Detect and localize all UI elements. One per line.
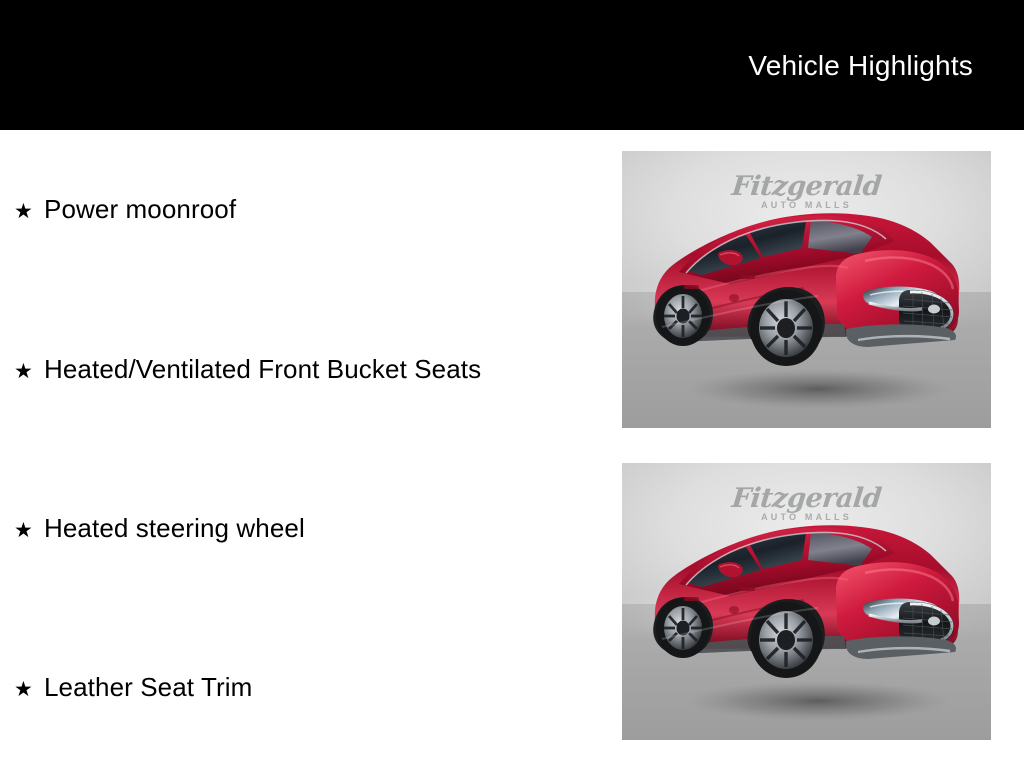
highlight-label: Heated steering wheel <box>44 513 305 543</box>
star-bullet-icon: ★ <box>14 357 44 387</box>
list-item: ★ Power moonroof <box>14 194 236 227</box>
highlight-label: Leather Seat Trim <box>44 672 252 702</box>
highlight-label: Power moonroof <box>44 194 236 224</box>
list-item: ★ Leather Seat Trim <box>14 672 252 705</box>
vehicle-image-suv <box>622 463 991 740</box>
page-title: Vehicle Highlights <box>748 50 973 82</box>
vehicle-highlights-list: ★ Power moonroof ★ Heated/Ventilated Fro… <box>0 130 612 768</box>
slide-vehicle-highlights: Vehicle Highlights ★ Power moonroof ★ He… <box>0 0 1024 768</box>
vehicle-image-suv <box>622 151 991 428</box>
star-bullet-icon: ★ <box>14 516 44 546</box>
vehicle-photo-2[interactable]: Fitzgerald AUTO MALLS <box>622 463 991 740</box>
highlight-label: Heated/Ventilated Front Bucket Seats <box>44 354 481 384</box>
vehicle-photo-1[interactable]: Fitzgerald AUTO MALLS <box>622 151 991 428</box>
header-bar: Vehicle Highlights <box>0 0 1024 130</box>
list-item: ★ Heated steering wheel <box>14 513 305 546</box>
star-bullet-icon: ★ <box>14 675 44 705</box>
list-item: ★ Heated/Ventilated Front Bucket Seats <box>14 354 481 387</box>
star-bullet-icon: ★ <box>14 197 44 227</box>
